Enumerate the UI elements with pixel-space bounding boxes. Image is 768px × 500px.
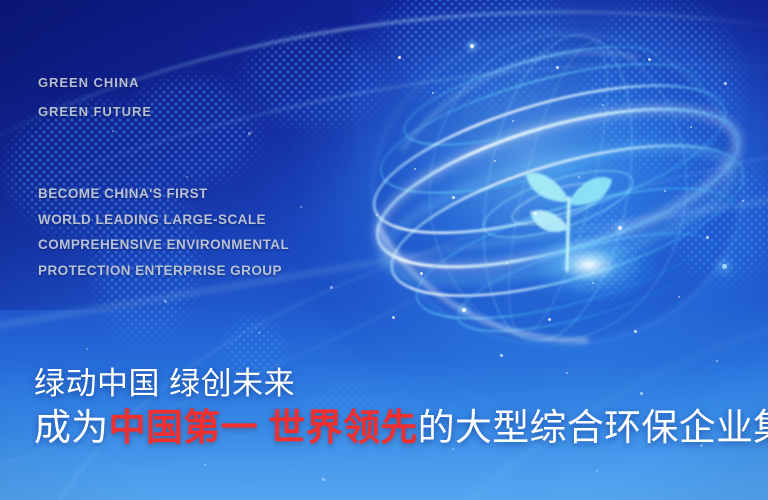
headline-line-2-suffix: 的大型综合环保企业集团 — [418, 407, 768, 448]
mission-line-3: COMPREHENSIVE ENVIRONMENTAL — [38, 232, 289, 258]
headline-block: 绿动中国 绿创未来 成为中国第一 世界领先的大型综合环保企业集团 — [34, 364, 768, 451]
headline-line-1: 绿动中国 绿创未来 — [34, 364, 768, 404]
tagline-line-1: GREEN CHINA — [38, 68, 152, 97]
mission-line-1: BECOME CHINA'S FIRST — [38, 181, 289, 207]
headline-line-2-prefix: 成为 — [34, 407, 109, 448]
mission-line-2: WORLD LEADING LARGE-SCALE — [38, 207, 289, 233]
headline-line-2-accent: 中国第一 世界领先 — [109, 407, 418, 448]
tagline-line-2: GREEN FUTURE — [38, 97, 152, 126]
tagline-block: GREEN CHINA GREEN FUTURE — [38, 68, 152, 126]
mission-statement-block: BECOME CHINA'S FIRST WORLD LEADING LARGE… — [38, 181, 289, 283]
headline-line-2: 成为中国第一 世界领先的大型综合环保企业集团 — [34, 404, 768, 451]
hero-banner: GREEN CHINA GREEN FUTURE BECOME CHINA'S … — [0, 0, 768, 500]
mission-line-4: PROTECTION ENTERPRISE GROUP — [38, 258, 289, 284]
